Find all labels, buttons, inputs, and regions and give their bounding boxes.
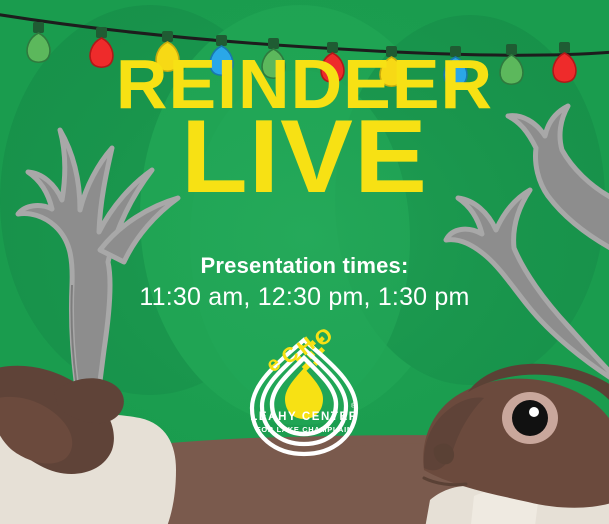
poster-artwork: ®: [0, 0, 609, 524]
registered-mark: ®: [351, 402, 357, 410]
reindeer-eye: [502, 392, 558, 444]
reindeer-live-poster: ® REINDEER LIVE Presentation times: 11:3…: [0, 0, 609, 524]
